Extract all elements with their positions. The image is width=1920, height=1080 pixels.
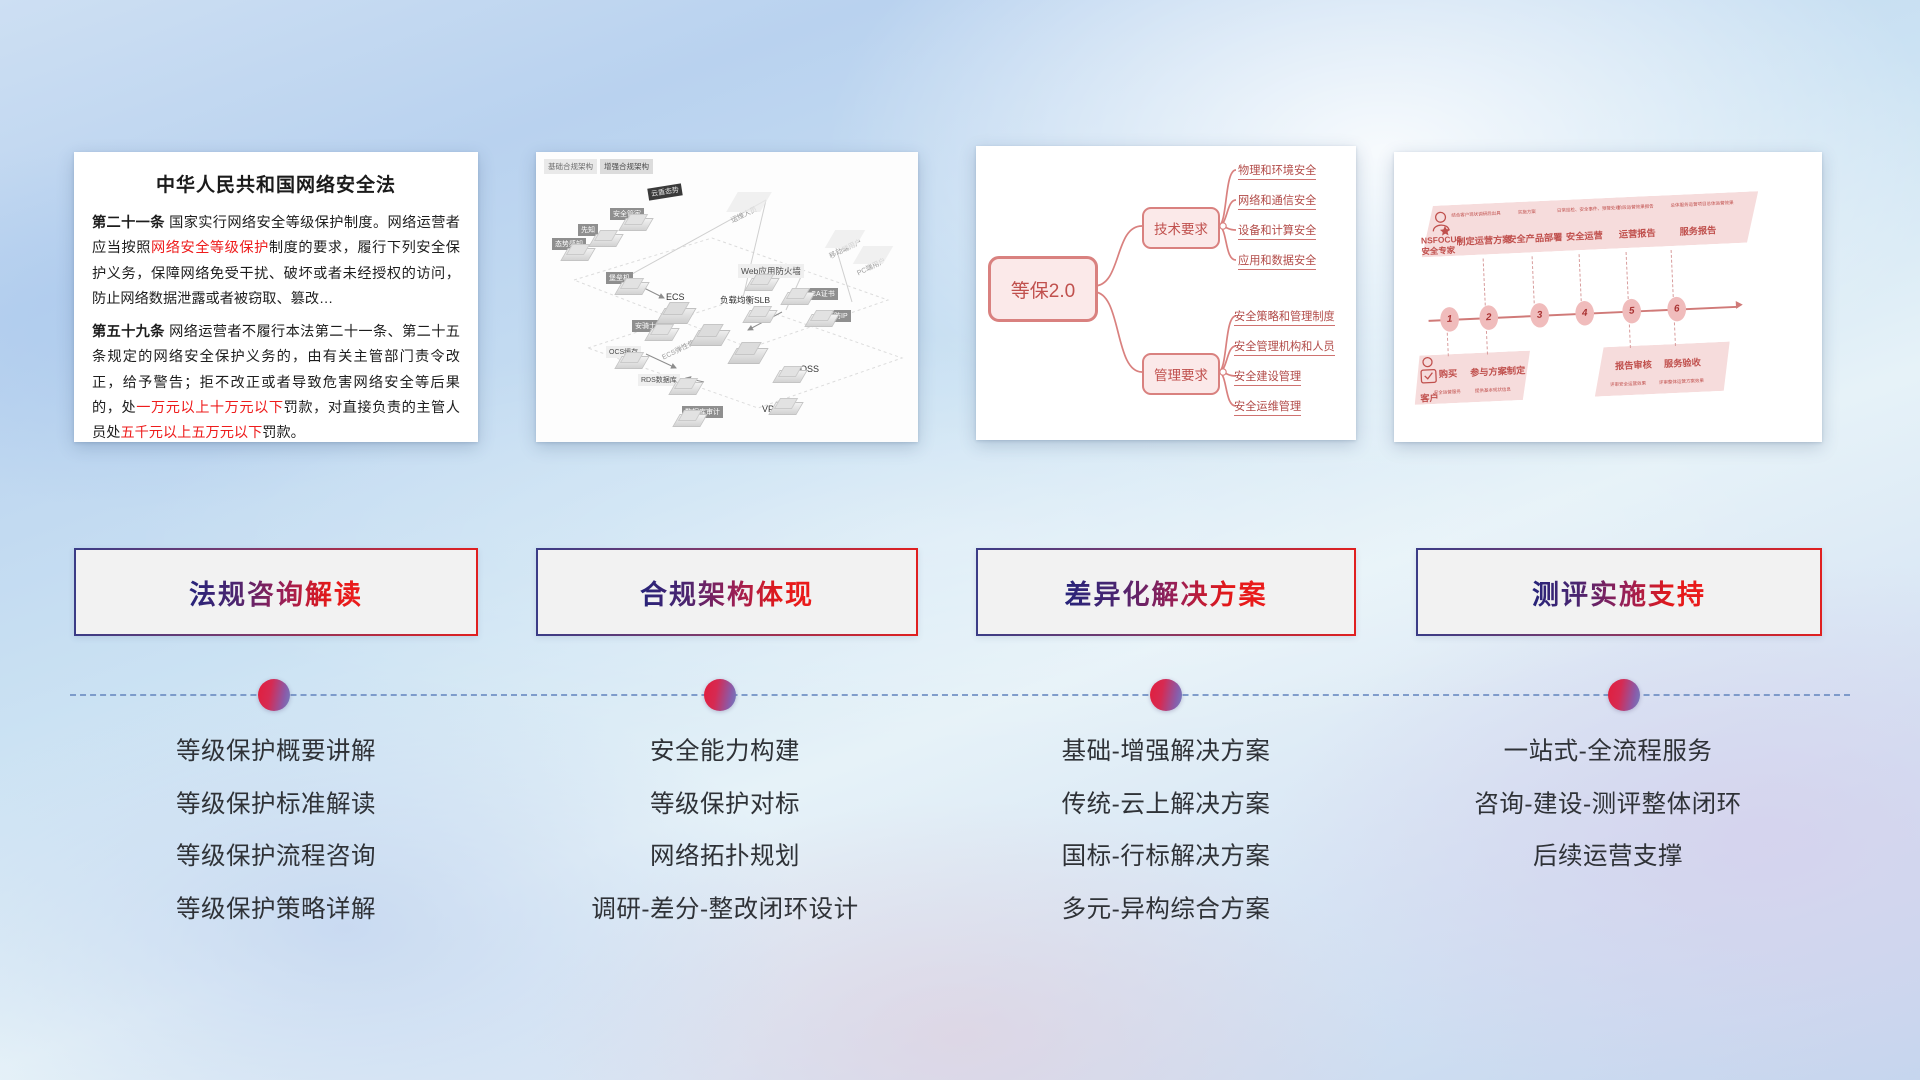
process-bottom-band-right [1593, 342, 1732, 397]
process-leader-line [1629, 324, 1632, 348]
list-item: 等级保护对标 [510, 793, 940, 818]
section-title-row: 法规咨询解读 合规架构体现 差异化解决方案 测评实施支持 [0, 548, 1920, 648]
mindmap-leaf: 安全建设管理 [1234, 368, 1301, 386]
list-item: 等级保护流程咨询 [74, 845, 478, 870]
list-item: 多元-异构综合方案 [976, 898, 1356, 923]
server-icon [592, 230, 618, 246]
section-title-box-3[interactable]: 差异化解决方案 [976, 548, 1356, 636]
list-item: 等级保护标准解读 [74, 793, 478, 818]
process-leader-line [1674, 322, 1677, 346]
list-item: 国标-行标解决方案 [976, 845, 1356, 870]
law-article-59-label: 第五十九条 [92, 324, 165, 340]
process-bottom-step-label: 参与方案制定 [1470, 363, 1526, 379]
mindmap-root-node[interactable]: 等保2.0 [988, 256, 1098, 322]
process-milestone: 2 [1479, 305, 1499, 330]
server-icon [672, 378, 698, 394]
process-top-step-label: 安全产品部署 [1507, 229, 1563, 245]
section-title-label: 合规架构体现 [640, 573, 814, 612]
architecture-diagram-card[interactable]: 基础合规架构 增强合规架构 [536, 152, 918, 442]
law-article-21-highlight: 网络安全等级保护 [151, 240, 269, 256]
process-milestone: 1 [1440, 307, 1460, 332]
list-item: 后续运营支撑 [1394, 845, 1822, 870]
process-leader-line [1483, 258, 1487, 305]
process-top-step-sub: 实施方案 [1518, 209, 1536, 216]
mindmap-leaf: 应用和数据安全 [1238, 252, 1316, 270]
timeline-node-1[interactable] [258, 679, 290, 711]
process-top-step-label: 安全运营 [1566, 228, 1603, 243]
mindmap-branch-technical[interactable]: 技术要求 [1142, 207, 1220, 249]
server-icon [808, 310, 834, 326]
law-document-body: 中华人民共和国网络安全法 第二十一条 国家实行网络安全等级保护制度。网络运营者应… [74, 152, 478, 442]
arch-node-ecs: ECS [666, 292, 685, 302]
law-article-59-highlight-2: 五千元以上五万元以下 [120, 425, 262, 441]
process-top-step-label: 运营报告 [1619, 225, 1656, 240]
law-article-59: 第五十九条 网络运营者不履行本法第二十一条、第二十五条规定的网络安全保护义务的，… [92, 320, 460, 442]
mindmap-card[interactable]: 等保2.0 技术要求 物理和环境安全 网络和通信安全 设备和计算安全 应用和数据… [976, 146, 1356, 440]
server-icon [776, 366, 802, 382]
law-document-card[interactable]: 中华人民共和国网络安全法 第二十一条 国家实行网络安全等级保护制度。网络运营者应… [74, 152, 478, 442]
law-article-21: 第二十一条 国家实行网络安全等级保护制度。网络运营者应当按照网络安全等级保护制度… [92, 211, 460, 312]
list-item: 传统-云上解决方案 [976, 793, 1356, 818]
mindmap-leaf: 网络和通信安全 [1238, 192, 1316, 210]
server-icon [784, 288, 810, 304]
process-leader-line [1626, 252, 1630, 299]
server-icon [648, 324, 674, 340]
server-icon [746, 306, 772, 322]
compute-stack-icon [732, 342, 762, 364]
process-milestone: 6 [1667, 296, 1687, 321]
process-axis-arrow-icon [1736, 301, 1743, 309]
law-title: 中华人民共和国网络安全法 [92, 170, 460, 197]
compute-stack-icon [660, 302, 690, 324]
list-item: 等级保护概要讲解 [74, 740, 478, 765]
process-top-step-label: 服务报告 [1679, 222, 1716, 237]
mindmap-canvas: 等保2.0 技术要求 物理和环境安全 网络和通信安全 设备和计算安全 应用和数据… [976, 146, 1356, 440]
mindmap-branch-management[interactable]: 管理要求 [1142, 353, 1220, 395]
compute-stack-icon [694, 324, 724, 346]
capability-list-row: 等级保护概要讲解 等级保护标准解读 等级保护流程咨询 等级保护策略详解 安全能力… [0, 740, 1920, 1060]
timeline-node-4[interactable] [1608, 679, 1640, 711]
capability-column-1: 等级保护概要讲解 等级保护标准解读 等级保护流程咨询 等级保护策略详解 [74, 740, 478, 950]
section-title-box-4[interactable]: 测评实施支持 [1416, 548, 1822, 636]
mindmap-leaf: 安全运维管理 [1234, 398, 1301, 416]
capability-column-3: 基础-增强解决方案 传统-云上解决方案 国标-行标解决方案 多元-异构综合方案 [976, 740, 1356, 950]
timeline-node-2[interactable] [704, 679, 736, 711]
section-title-label: 差异化解决方案 [1065, 573, 1268, 612]
list-item: 咨询-建设-测评整体闭环 [1394, 793, 1822, 818]
server-icon [676, 410, 702, 426]
service-process-card[interactable]: NSFOCUS安全专家 客户 结合客户现状调研后出具 制定运营方案 实施方案 安… [1394, 152, 1822, 442]
process-leader-line [1532, 256, 1536, 303]
section-title-box-2[interactable]: 合规架构体现 [536, 548, 918, 636]
server-icon [618, 352, 644, 368]
process-milestone: 4 [1575, 301, 1595, 326]
process-top-step-label: 制定运营方案 [1456, 232, 1512, 248]
architecture-canvas: 基础合规架构 增强合规架构 [536, 152, 918, 442]
section-title-box-1[interactable]: 法规咨询解读 [74, 548, 478, 636]
process-bottom-step-label: 服务验收 [1664, 355, 1701, 370]
list-item: 基础-增强解决方案 [976, 740, 1356, 765]
mindmap-leaf: 安全管理机构和人员 [1234, 338, 1335, 356]
process-leader-line [1579, 254, 1583, 301]
list-item: 调研-差分-整改闭环设计 [510, 898, 940, 923]
law-article-59-text-c: 罚款。 [262, 425, 305, 441]
server-icon [748, 274, 774, 290]
law-article-59-highlight-1: 一万元以上十万元以下 [136, 400, 283, 416]
server-icon [564, 244, 590, 260]
process-bottom-step-sub: 安全运营服务 [1434, 389, 1461, 396]
list-item: 等级保护策略详解 [74, 898, 478, 923]
capability-column-4: 一站式-全流程服务 咨询-建设-测评整体闭环 后续运营支撑 [1394, 740, 1822, 898]
process-bottom-step-label: 购买 [1438, 366, 1457, 381]
server-icon [622, 214, 648, 230]
reference-screenshot-row: 中华人民共和国网络安全法 第二十一条 国家实行网络安全等级保护制度。网络运营者应… [0, 0, 1920, 470]
list-item: 网络拓扑规划 [510, 845, 940, 870]
process-milestone: 5 [1622, 298, 1642, 323]
law-article-21-label: 第二十一条 [92, 215, 165, 231]
section-title-label: 法规咨询解读 [189, 573, 363, 612]
list-item: 安全能力构建 [510, 740, 940, 765]
service-process-canvas: NSFOCUS安全专家 客户 结合客户现状调研后出具 制定运营方案 实施方案 安… [1394, 152, 1822, 442]
mindmap-leaf: 安全策略和管理制度 [1234, 308, 1335, 326]
capability-column-2: 安全能力构建 等级保护对标 网络拓扑规划 调研-差分-整改闭环设计 [510, 740, 940, 950]
list-item: 一站式-全流程服务 [1394, 740, 1822, 765]
section-title-label: 测评实施支持 [1532, 573, 1706, 612]
server-icon [618, 278, 644, 294]
process-leader-line [1486, 331, 1489, 355]
mindmap-leaf: 物理和环境安全 [1238, 162, 1316, 180]
mindmap-leaf: 设备和计算安全 [1238, 222, 1316, 240]
server-icon [772, 398, 798, 414]
arch-node-slb: 负载均衡SLB [720, 294, 770, 306]
timeline-node-3[interactable] [1150, 679, 1182, 711]
process-leader-line [1447, 333, 1450, 357]
process-leader-line [1671, 250, 1675, 297]
process-milestone: 3 [1530, 303, 1550, 328]
process-bottom-step-label: 报告审核 [1615, 357, 1652, 372]
